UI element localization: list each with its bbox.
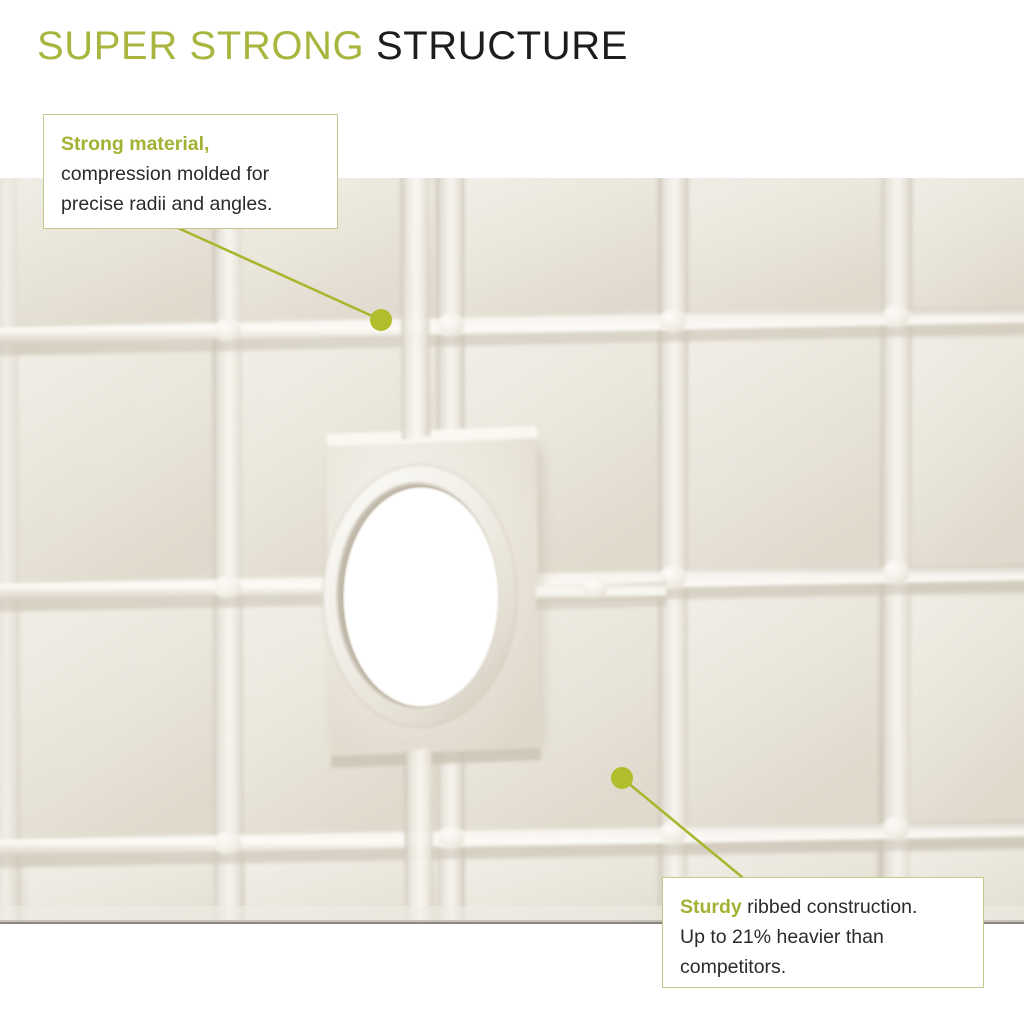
callout-strong-material: Strong material, compression molded for …	[43, 114, 338, 229]
callout-1-line-3: precise radii and angles.	[61, 189, 321, 219]
callout-2-line-3: competitors.	[680, 952, 967, 982]
product-photo	[0, 178, 1024, 924]
callout-2-bold-lead: Sturdy	[680, 896, 742, 918]
page-title-dark: STRUCTURE	[376, 24, 628, 68]
page-title-accent: SUPER STRONG	[37, 24, 364, 68]
ribbed-panel-illustration	[0, 178, 1024, 924]
callout-1-bold-lead: Strong material,	[61, 133, 209, 155]
callout-2-line-1-rest: ribbed construction.	[742, 896, 918, 918]
callout-2-line-1: Sturdy ribbed construction.	[680, 892, 967, 922]
callout-sturdy-ribbed: Sturdy ribbed construction. Up to 21% he…	[662, 877, 984, 988]
page-title: SUPER STRONG STRUCTURE	[37, 20, 628, 72]
callout-1-line-2: compression molded for	[61, 159, 321, 189]
port-hole-assembly	[323, 426, 544, 768]
callout-1-line-1: Strong material,	[61, 129, 321, 159]
callout-2-line-2: Up to 21% heavier than	[680, 922, 967, 952]
infographic-page: SUPER STRONG STRUCTURE	[0, 0, 1024, 1024]
